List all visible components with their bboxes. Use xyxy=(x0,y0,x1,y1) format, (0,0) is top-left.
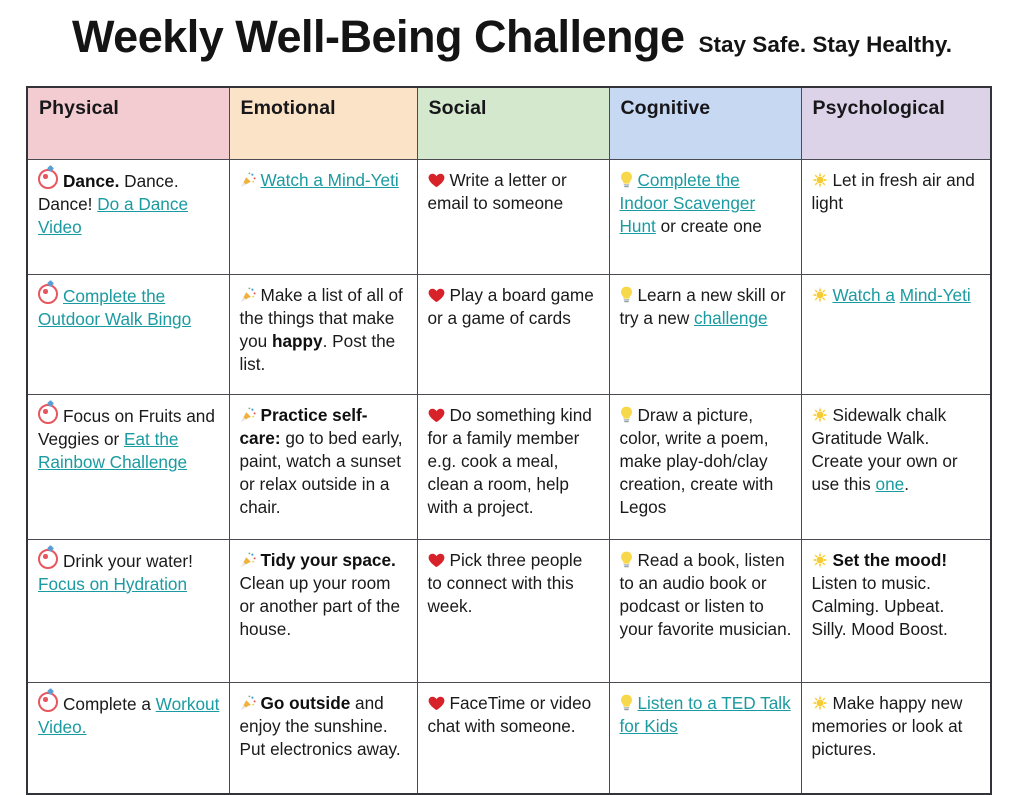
sun-icon xyxy=(812,287,828,303)
cell-link[interactable]: Focus on Hydration xyxy=(38,574,187,594)
table-header: Physical Emotional Social Cognitive Psyc… xyxy=(27,87,991,160)
cell-bold-text: Set the mood! xyxy=(833,550,948,570)
cell-bold-text: happy xyxy=(272,331,323,351)
table-row: Drink your water! Focus on HydrationTidy… xyxy=(27,540,991,683)
cell-social-row3: Do something kind for a family member e.… xyxy=(417,395,609,540)
heart-icon xyxy=(428,288,445,303)
sun-icon xyxy=(812,407,828,423)
cell-text: Let in fresh air and light xyxy=(812,170,975,213)
cell-social-row2: Play a board game or a game of cards xyxy=(417,275,609,395)
cell-social-row5: FaceTime or video chat with someone. xyxy=(417,683,609,795)
cell-text: Read a book, listen to an audio book or … xyxy=(620,550,792,639)
cell-link[interactable]: Watch a Mind-Yeti xyxy=(261,170,399,190)
cell-link[interactable]: challenge xyxy=(694,308,768,328)
cell-social-row4: Pick three people to connect with this w… xyxy=(417,540,609,683)
column-header-social: Social xyxy=(417,87,609,160)
cell-physical-row4: Drink your water! Focus on Hydration xyxy=(27,540,229,683)
cell-physical-row3: Focus on Fruits and Veggies or Eat the R… xyxy=(27,395,229,540)
cell-link[interactable]: Listen to a TED Talk for Kids xyxy=(620,693,791,736)
cell-cognitive-row4: Read a book, listen to an audio book or … xyxy=(609,540,801,683)
target-icon xyxy=(38,404,58,424)
cell-social-row1: Write a letter or email to someone xyxy=(417,160,609,275)
column-header-cognitive: Cognitive xyxy=(609,87,801,160)
column-header-psychological: Psychological xyxy=(801,87,991,160)
cell-psychological-row3: Sidewalk chalk Gratitude Walk. Create yo… xyxy=(801,395,991,540)
target-icon xyxy=(38,549,58,569)
lightbulb-icon xyxy=(620,171,633,188)
target-icon xyxy=(38,169,58,189)
cell-bold-text: Go outside xyxy=(261,693,351,713)
heart-icon xyxy=(428,696,445,711)
cell-text: Listen to music. Calming. Upbeat. Silly.… xyxy=(812,573,948,639)
challenge-table: Physical Emotional Social Cognitive Psyc… xyxy=(26,86,992,795)
cell-text: Play a board game or a game of cards xyxy=(428,285,594,328)
cell-bold-text: Dance. xyxy=(63,171,119,191)
target-icon xyxy=(38,284,58,304)
lightbulb-icon xyxy=(620,286,633,303)
sun-icon xyxy=(812,172,828,188)
cell-text: . xyxy=(904,474,909,494)
table-row: Dance. Dance. Dance! Do a Dance VideoWat… xyxy=(27,160,991,275)
cell-text: or create one xyxy=(656,216,762,236)
cell-psychological-row2: Watch a Mind-Yeti xyxy=(801,275,991,395)
cell-emotional-row4: Tidy your space. Clean up your room or a… xyxy=(229,540,417,683)
cell-psychological-row5: Make happy new memories or look at pictu… xyxy=(801,683,991,795)
cell-text: Clean up your room or another part of th… xyxy=(240,573,401,639)
table-row: Focus on Fruits and Veggies or Eat the R… xyxy=(27,395,991,540)
table-row: Complete a Workout Video.Go outside and … xyxy=(27,683,991,795)
cell-physical-row2: Complete the Outdoor Walk Bingo xyxy=(27,275,229,395)
lightbulb-icon xyxy=(620,551,633,568)
cell-text: Drink your water! xyxy=(63,551,193,571)
party-popper-icon xyxy=(240,172,256,188)
cell-text: Pick three people to connect with this w… xyxy=(428,550,583,616)
party-popper-icon xyxy=(240,407,256,423)
column-header-emotional: Emotional xyxy=(229,87,417,160)
sun-icon xyxy=(812,695,828,711)
cell-psychological-row4: Set the mood! Listen to music. Calming. … xyxy=(801,540,991,683)
cell-emotional-row2: Make a list of all of the things that ma… xyxy=(229,275,417,395)
page-title: Weekly Well-Being Challenge Stay Safe. S… xyxy=(0,0,1024,86)
cell-physical-row1: Dance. Dance. Dance! Do a Dance Video xyxy=(27,160,229,275)
cell-text: Complete a xyxy=(63,694,156,714)
cell-cognitive-row2: Learn a new skill or try a new challenge xyxy=(609,275,801,395)
sun-icon xyxy=(812,552,828,568)
cell-psychological-row1: Let in fresh air and light xyxy=(801,160,991,275)
cell-text: Write a letter or email to someone xyxy=(428,170,567,213)
party-popper-icon xyxy=(240,287,256,303)
cell-emotional-row3: Practice self-care: go to bed early, pai… xyxy=(229,395,417,540)
cell-emotional-row1: Watch a Mind-Yeti xyxy=(229,160,417,275)
table-row: Complete the Outdoor Walk BingoMake a li… xyxy=(27,275,991,395)
title-main: Weekly Well-Being Challenge xyxy=(72,14,685,59)
cell-text: FaceTime or video chat with someone. xyxy=(428,693,592,736)
cell-cognitive-row3: Draw a picture, color, write a poem, mak… xyxy=(609,395,801,540)
table-body: Dance. Dance. Dance! Do a Dance VideoWat… xyxy=(27,160,991,795)
cell-link[interactable]: Complete the Outdoor Walk Bingo xyxy=(38,286,191,329)
column-header-physical: Physical xyxy=(27,87,229,160)
cell-link[interactable]: Mind-Yeti xyxy=(900,285,971,305)
title-subtitle: Stay Safe. Stay Healthy. xyxy=(699,34,952,57)
target-icon xyxy=(38,692,58,712)
cell-physical-row5: Complete a Workout Video. xyxy=(27,683,229,795)
cell-text: Draw a picture, color, write a poem, mak… xyxy=(620,405,774,517)
cell-link[interactable]: one xyxy=(876,474,905,494)
heart-icon xyxy=(428,553,445,568)
cell-text: Make happy new memories or look at pictu… xyxy=(812,693,963,759)
cell-emotional-row5: Go outside and enjoy the sunshine. Put e… xyxy=(229,683,417,795)
challenge-poster: Weekly Well-Being Challenge Stay Safe. S… xyxy=(0,0,1024,744)
heart-icon xyxy=(428,408,445,423)
party-popper-icon xyxy=(240,552,256,568)
cell-cognitive-row1: Complete the Indoor Scavenger Hunt or cr… xyxy=(609,160,801,275)
lightbulb-icon xyxy=(620,694,633,711)
cell-bold-text: Tidy your space. xyxy=(261,550,396,570)
cell-link[interactable]: Watch a xyxy=(833,285,895,305)
cell-text: Do something kind for a family member e.… xyxy=(428,405,592,517)
party-popper-icon xyxy=(240,695,256,711)
header-row: Physical Emotional Social Cognitive Psyc… xyxy=(27,87,991,160)
cell-cognitive-row5: Listen to a TED Talk for Kids xyxy=(609,683,801,795)
lightbulb-icon xyxy=(620,406,633,423)
heart-icon xyxy=(428,173,445,188)
